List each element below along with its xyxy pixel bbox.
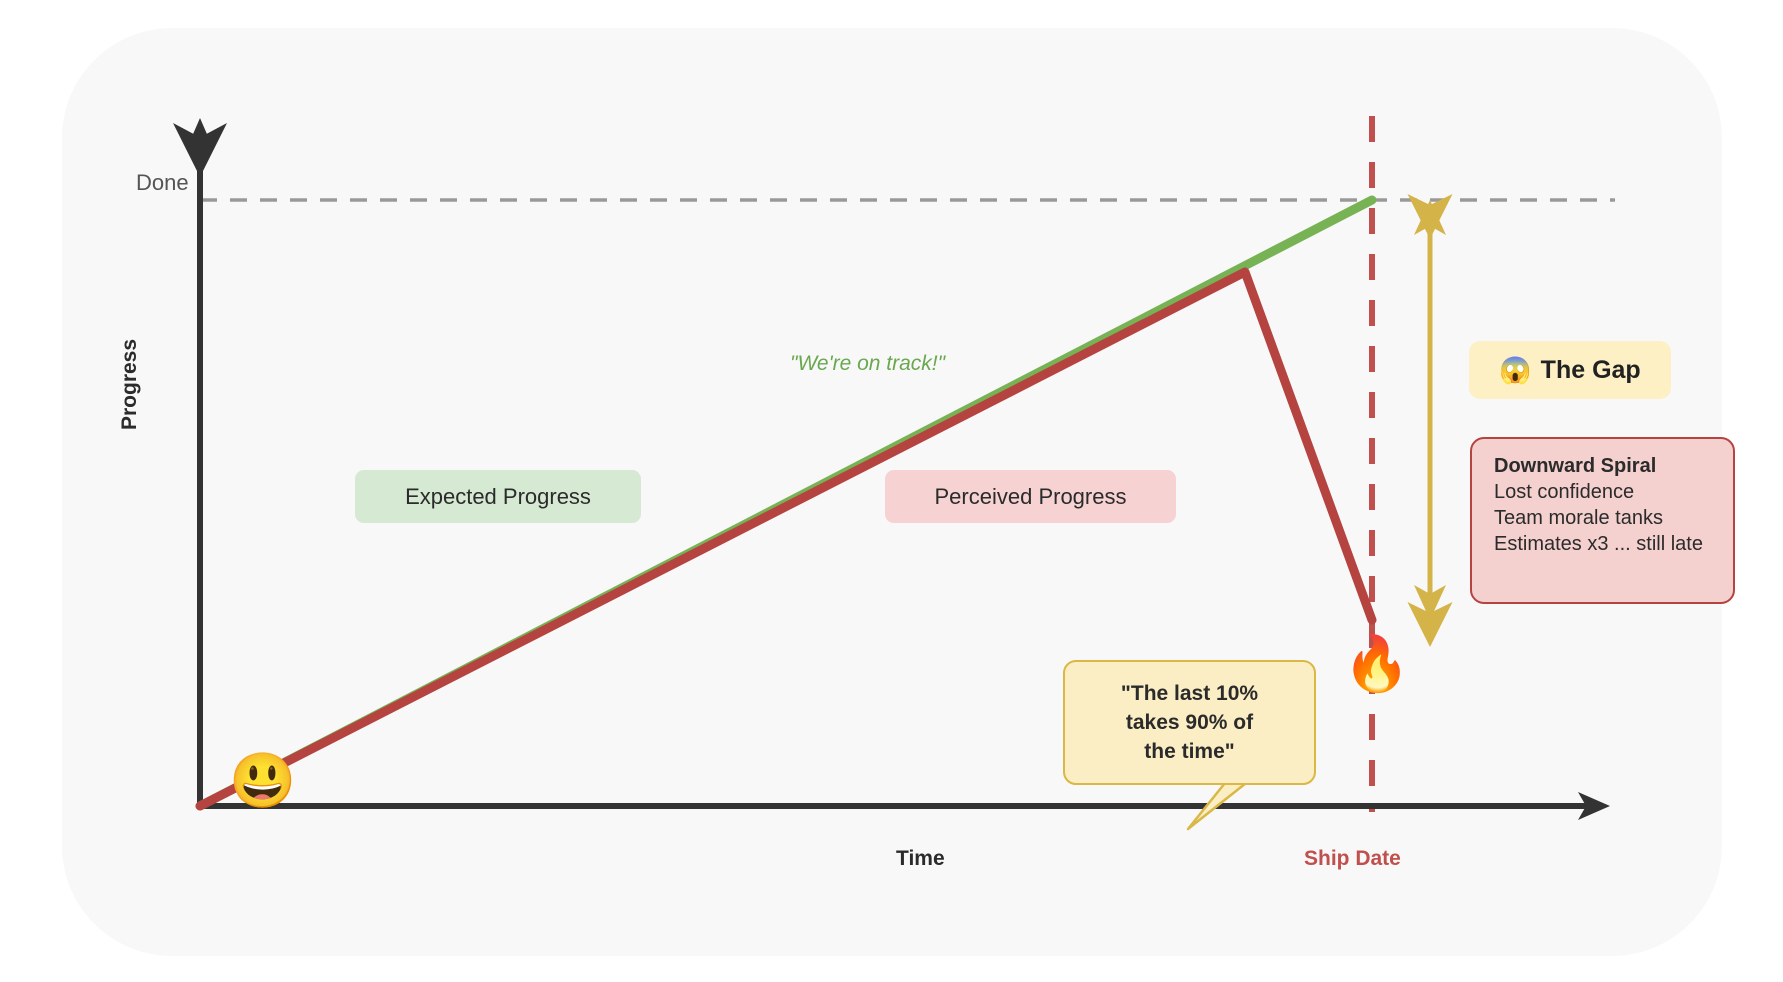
y-axis-label: Progress [118,339,142,430]
speech-bubble-line-1: "The last 10% [1121,679,1258,708]
downward-spiral-title: Downward Spiral [1494,453,1733,479]
downward-spiral-item-2: Team morale tanks [1494,505,1733,531]
x-axis-label: Time [896,847,945,871]
legend-expected-progress: Expected Progress [355,470,641,523]
gap-badge-label: The Gap [1541,356,1641,385]
speech-bubble: "The last 10% takes 90% of the time" [1063,660,1316,785]
ship-date-label: Ship Date [1304,847,1401,871]
speech-bubble-line-3: the time" [1144,737,1234,766]
screaming-face-icon: 😱 [1499,357,1531,383]
done-tick-label: Done [136,170,189,196]
downward-spiral-item-3: Estimates x3 ... still late [1494,531,1733,557]
gap-badge: 😱 The Gap [1469,341,1671,399]
speech-bubble-line-2: takes 90% of [1126,708,1253,737]
fire-icon: 🔥 [1343,637,1410,691]
downward-spiral-card: Downward Spiral Lost confidence Team mor… [1470,437,1735,604]
on-track-quote: "We're on track!" [790,352,945,376]
legend-perceived-progress: Perceived Progress [885,470,1176,523]
diagram-canvas: Done Progress Time Ship Date "We're on t… [0,0,1783,982]
downward-spiral-item-1: Lost confidence [1494,479,1733,505]
grinning-face-icon: 😃 [229,754,296,808]
